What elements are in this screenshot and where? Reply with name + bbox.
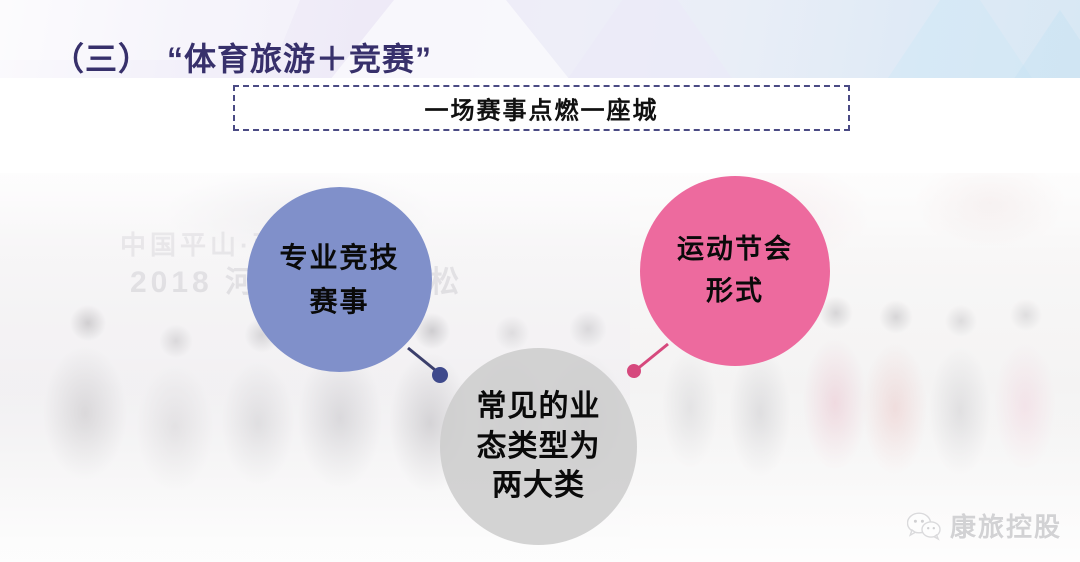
watermark-text: 康旅控股 (950, 507, 1062, 544)
page-title: （三）“体育旅游＋竞赛” (52, 34, 432, 80)
blue-bubble-line-2: 赛事 (309, 280, 369, 323)
professional-competition-bubble[interactable]: 专业竞技 赛事 (247, 187, 432, 372)
sports-festival-bubble[interactable]: 运动节会 形式 (640, 176, 830, 366)
page-title-text: “体育旅游＋竞赛” (167, 41, 432, 77)
slide-root: （三）“体育旅游＋竞赛” 一场赛事点燃一座城 中国平山·西柏坡 2018 河北山… (0, 0, 1080, 562)
gray-bubble-line-2: 态类型为 (477, 427, 601, 467)
wechat-icon (907, 511, 941, 541)
blue-bubble-line-1: 专业竞技 (279, 236, 399, 279)
gray-bubble-line-3: 两大类 (492, 466, 585, 506)
page-title-number: （三） (52, 41, 151, 77)
callout-text: 一场赛事点燃一座城 (235, 91, 848, 126)
gray-bubble-line-1: 常见的业 (477, 387, 601, 427)
pink-bubble-line-1: 运动节会 (677, 229, 793, 271)
common-business-types-bubble[interactable]: 常见的业 态类型为 两大类 (440, 348, 637, 545)
header-shape-triangle-2 (560, 0, 740, 78)
watermark: 康旅控股 (907, 507, 1062, 544)
pink-bubble-line-2: 形式 (706, 271, 764, 313)
header-shape-triangle-4 (1000, 10, 1080, 78)
callout-box: 一场赛事点燃一座城 (233, 85, 850, 131)
